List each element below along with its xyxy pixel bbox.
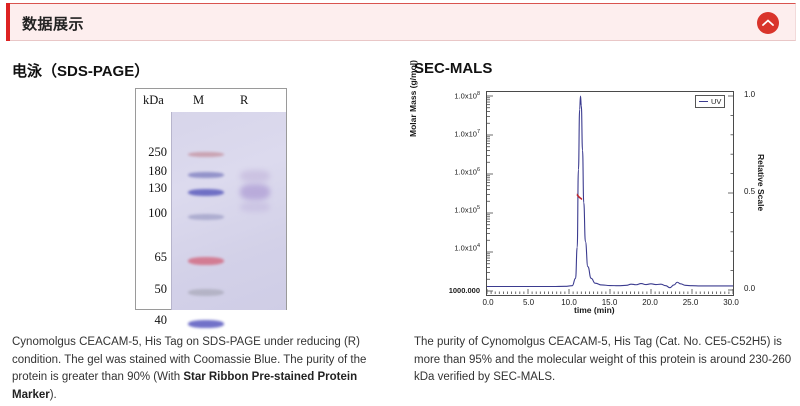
gel-sample-band	[240, 202, 270, 212]
gel-ladder-label: 65	[139, 250, 167, 265]
gel-marker-band	[188, 189, 224, 196]
sds-page-section-title: 电泳（SDS-PAGE）	[12, 60, 149, 81]
sec-mals-caption: The purity of Cynomolgus CEACAM-5, His T…	[414, 334, 792, 387]
collapse-toggle-button[interactable]	[757, 12, 779, 34]
sec-mals-chart: Molar Mass (g/mol) Relative Scale time (…	[414, 82, 794, 314]
caption-left-suffix: ).	[50, 389, 57, 401]
gel-ladder-label: 40	[139, 313, 167, 328]
sec-mals-section-title: SEC-MALS	[414, 60, 492, 77]
chart-x-tick-label: 15.0	[602, 298, 618, 307]
chart-y-tick-label: 1000.000	[449, 286, 480, 295]
chart-y-tick-label: 1.0x105	[454, 205, 480, 215]
gel-ladder-label: 50	[139, 282, 167, 297]
sds-page-gel-image: kDa M R 250180130100655040	[135, 88, 287, 310]
gel-marker-band	[188, 172, 224, 178]
chart-x-tick-label: 0.0	[482, 298, 493, 307]
gel-header-kda: kDa	[143, 93, 164, 108]
gel-marker-band	[188, 320, 224, 328]
chart-y2-tick-label: 0.0	[744, 284, 755, 293]
sds-page-caption: Cynomolgus CEACAM-5, His Tag on SDS-PAGE…	[12, 334, 384, 404]
gel-ladder-label: 100	[139, 206, 167, 221]
gel-sample-band	[240, 170, 270, 182]
chart-y-tick-label: 1.0x107	[454, 129, 480, 139]
chart-plot-area	[486, 91, 734, 296]
chart-y-tick-label: 1.0x108	[454, 91, 480, 101]
gel-ladder-label: 250	[139, 145, 167, 160]
gel-marker-band	[188, 257, 224, 265]
chart-y-tick-label: 1.0x104	[454, 243, 480, 253]
chart-y-tick-label: 1.0x106	[454, 167, 480, 177]
chart-y2-tick-label: 0.5	[744, 187, 755, 196]
gel-lane-area	[171, 112, 286, 310]
gel-marker-band	[188, 214, 224, 220]
chart-y2-axis-title: Relative Scale	[756, 154, 766, 211]
chart-x-tick-label: 25.0	[683, 298, 699, 307]
gel-sample-band	[240, 184, 270, 200]
chart-x-tick-label: 20.0	[642, 298, 658, 307]
panel-header: 数据展示	[6, 3, 796, 41]
legend-line-icon	[699, 101, 708, 102]
chart-x-tick-label: 30.0	[723, 298, 739, 307]
chart-y2-tick-label: 1.0	[744, 90, 755, 99]
gel-marker-band	[188, 289, 224, 296]
gel-header-reduced: R	[240, 93, 248, 108]
chart-x-tick-label: 5.0	[523, 298, 534, 307]
gel-marker-band	[188, 152, 224, 157]
page-title: 数据展示	[22, 13, 84, 34]
chart-y-axis-title: Molar Mass (g/mol)	[408, 60, 418, 137]
uv-trace	[487, 96, 733, 288]
chart-x-tick-label: 10.0	[561, 298, 577, 307]
chart-curves	[487, 92, 733, 295]
gel-column-headers: kDa M R	[136, 93, 286, 113]
data-display-page: 数据展示 电泳（SDS-PAGE） kDa M R 25018013010065…	[0, 0, 800, 406]
gel-ladder-label: 130	[139, 181, 167, 196]
chart-legend: UV	[695, 95, 725, 108]
gel-ladder-label: 180	[139, 164, 167, 179]
gel-header-marker: M	[193, 93, 204, 108]
legend-label-uv: UV	[711, 97, 721, 106]
